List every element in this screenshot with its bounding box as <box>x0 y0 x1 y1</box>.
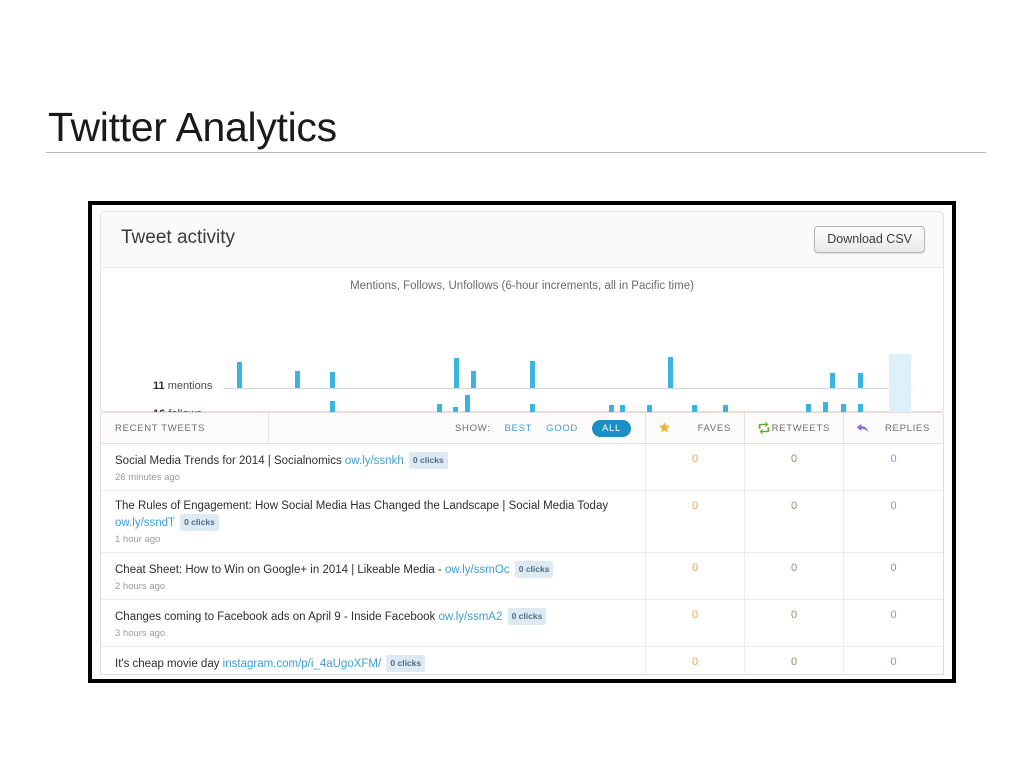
table-row[interactable]: It's cheap movie day instagram.com/p/i_4… <box>101 647 943 675</box>
clicks-badge: 0 clicks <box>386 655 425 672</box>
show-option-best[interactable]: BEST <box>505 423 533 434</box>
table-header-row: RECENT TWEETS SHOW: BEST GOOD ALL FAVES <box>101 413 943 444</box>
cell-replies: 0 <box>844 553 943 599</box>
mentions-baseline <box>223 388 913 389</box>
tweet-link[interactable]: instagram.com/p/i_4aUgoXFM/ <box>223 658 382 670</box>
chart-bar-mentions <box>330 372 335 388</box>
tweet-text: It's cheap movie day instagram.com/p/i_4… <box>115 655 631 672</box>
retweets-label: RETWEETS <box>772 423 830 434</box>
cell-replies: 0 <box>844 647 943 675</box>
tweet-body: Changes coming to Facebook ads on April … <box>115 611 438 623</box>
retweet-icon <box>757 421 771 439</box>
cell-retweets: 0 <box>745 444 844 490</box>
replies-label: REPLIES <box>885 423 930 434</box>
chart-bar-mentions <box>668 357 673 388</box>
show-filter-group: SHOW: BEST GOOD ALL <box>269 413 646 443</box>
table-row[interactable]: The Rules of Engagement: How Social Medi… <box>101 491 943 553</box>
tweet-body: It's cheap movie day <box>115 658 223 670</box>
show-option-good[interactable]: GOOD <box>546 423 578 434</box>
cell-replies: 0 <box>844 491 943 552</box>
panel-header: Tweet activity Download CSV <box>100 211 944 267</box>
chart-bar-mentions <box>471 371 476 388</box>
clicks-badge: 0 clicks <box>409 452 448 469</box>
title-divider <box>46 152 986 153</box>
chart-bar-mentions <box>530 361 535 388</box>
column-header-retweets: RETWEETS <box>745 413 844 443</box>
mentions-count: 11 <box>153 380 165 392</box>
clicks-badge: 0 clicks <box>180 514 219 531</box>
cell-retweets: 0 <box>745 491 844 552</box>
clicks-badge: 0 clicks <box>515 561 554 578</box>
tweet-text: Social Media Trends for 2014 | Socialnom… <box>115 452 631 469</box>
clicks-badge: 0 clicks <box>508 608 547 625</box>
tweet-text: Cheat Sheet: How to Win on Google+ in 20… <box>115 561 631 578</box>
tweet-body: The Rules of Engagement: How Social Medi… <box>115 500 608 512</box>
panel-title: Tweet activity <box>121 227 235 249</box>
table-row[interactable]: Social Media Trends for 2014 | Socialnom… <box>101 444 943 491</box>
tweet-cell: Changes coming to Facebook ads on April … <box>101 600 646 646</box>
tweet-timestamp: 1 hour ago <box>115 534 631 545</box>
column-header-recent-tweets: RECENT TWEETS <box>101 413 269 443</box>
cell-faves: 0 <box>646 491 745 552</box>
table-row[interactable]: Changes coming to Facebook ads on April … <box>101 600 943 647</box>
table-row[interactable]: Cheat Sheet: How to Win on Google+ in 20… <box>101 553 943 600</box>
reply-icon <box>856 421 870 439</box>
tweet-cell: Cheat Sheet: How to Win on Google+ in 20… <box>101 553 646 599</box>
tweet-body: Social Media Trends for 2014 | Socialnom… <box>115 455 345 467</box>
tweet-text: Changes coming to Facebook ads on April … <box>115 608 631 625</box>
tweet-link[interactable]: ow.ly/ssndT <box>115 517 175 529</box>
cell-faves: 0 <box>646 647 745 675</box>
show-label: SHOW: <box>455 423 491 434</box>
cell-faves: 0 <box>646 553 745 599</box>
tweet-body: Cheat Sheet: How to Win on Google+ in 20… <box>115 564 445 576</box>
column-header-replies: REPLIES <box>844 413 943 443</box>
cell-retweets: 0 <box>745 600 844 646</box>
tweet-timestamp: 2 hours ago <box>115 581 631 592</box>
star-icon <box>658 421 671 439</box>
tweet-timestamp: 3 hours ago <box>115 628 631 639</box>
download-csv-button[interactable]: Download CSV <box>814 226 925 253</box>
chart-bar-mentions <box>858 373 863 388</box>
cell-retweets: 0 <box>745 553 844 599</box>
cell-replies: 0 <box>844 444 943 490</box>
cell-faves: 0 <box>646 600 745 646</box>
cell-retweets: 0 <box>745 647 844 675</box>
axis-label-mentions: 11 mentions <box>153 380 212 393</box>
faves-label: FAVES <box>698 423 731 434</box>
recent-tweets-table: RECENT TWEETS SHOW: BEST GOOD ALL FAVES <box>100 412 944 675</box>
chart-bar-mentions <box>830 373 835 388</box>
tweet-link[interactable]: ow.ly/ssmA2 <box>438 611 502 623</box>
tweet-link[interactable]: ow.ly/ssnkh <box>345 455 404 467</box>
tweet-text: The Rules of Engagement: How Social Medi… <box>115 499 631 531</box>
tweet-cell: The Rules of Engagement: How Social Medi… <box>101 491 646 552</box>
cell-faves: 0 <box>646 444 745 490</box>
mentions-text: mentions <box>168 380 213 392</box>
show-option-all[interactable]: ALL <box>592 420 631 437</box>
page-title: Twitter Analytics <box>48 105 337 150</box>
chart-bar-mentions <box>454 358 459 388</box>
screenshot-frame: Tweet activity Download CSV Mentions, Fo… <box>88 201 956 683</box>
column-header-faves: FAVES <box>646 413 745 443</box>
cell-replies: 0 <box>844 600 943 646</box>
table-body: Social Media Trends for 2014 | Socialnom… <box>101 444 943 675</box>
chart-bar-mentions <box>237 362 242 388</box>
tweet-link[interactable]: ow.ly/ssmOc <box>445 564 510 576</box>
activity-chart: Mentions, Follows, Unfollows (6-hour inc… <box>100 267 944 412</box>
chart-bar-mentions <box>295 371 300 388</box>
tweet-timestamp: 26 minutes ago <box>115 472 631 483</box>
chart-caption: Mentions, Follows, Unfollows (6-hour inc… <box>101 280 943 292</box>
tweet-cell: It's cheap movie day instagram.com/p/i_4… <box>101 647 646 675</box>
tweet-cell: Social Media Trends for 2014 | Socialnom… <box>101 444 646 490</box>
